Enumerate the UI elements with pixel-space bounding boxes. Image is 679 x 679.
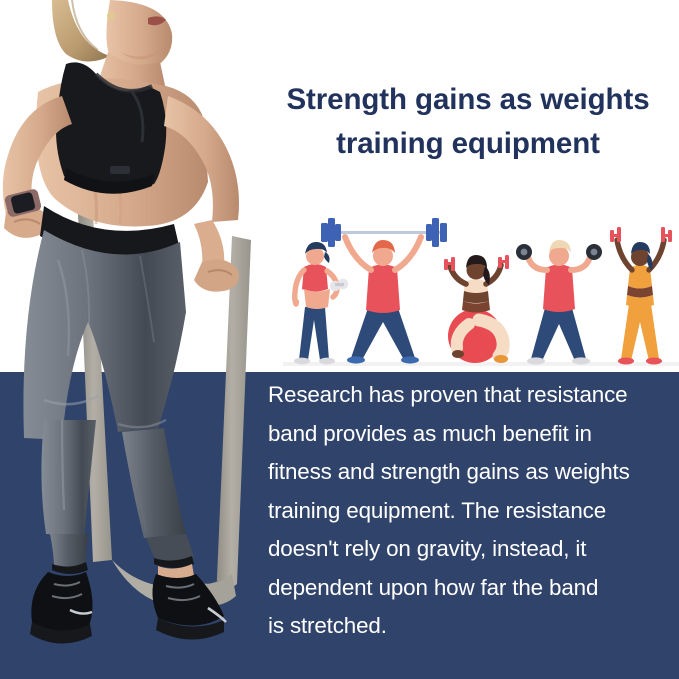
product-photo-woman-with-band xyxy=(0,0,262,679)
page-title: Strength gains as weights training equip… xyxy=(262,78,674,165)
body-line-1: Research has proven that resistance xyxy=(268,376,673,415)
figure-5-overhead-raise xyxy=(610,227,672,365)
body-line-3: fitness and strength gains as weights xyxy=(268,453,673,492)
headline-line-1: Strength gains as weights xyxy=(286,83,649,116)
figure-1-dumbbell-curl xyxy=(293,242,348,364)
body-line-4: training equipment. The resistance xyxy=(268,492,673,531)
body-line-2: band provides as much benefit in xyxy=(268,415,673,454)
exercise-figures-illustration xyxy=(283,212,679,374)
dumbbell-icon xyxy=(586,244,602,260)
dumbbell-icon xyxy=(516,244,532,260)
headline-line-2: training equipment xyxy=(336,127,600,160)
body-paragraph: Research has proven that resistance band… xyxy=(268,376,673,646)
figure-4-shoulder-press xyxy=(516,240,602,365)
figure-2-barbell-press xyxy=(321,218,447,364)
marketing-infographic: Strength gains as weights training equip… xyxy=(0,0,679,679)
body-line-5: doesn't rely on gravity, instead, it xyxy=(268,530,673,569)
dumbbell-icon xyxy=(498,255,509,269)
figure-3-stability-ball xyxy=(444,255,509,363)
body-line-7: is stretched. xyxy=(268,607,673,646)
earring xyxy=(107,12,115,20)
body-line-6: dependent upon how far the band xyxy=(268,569,673,608)
